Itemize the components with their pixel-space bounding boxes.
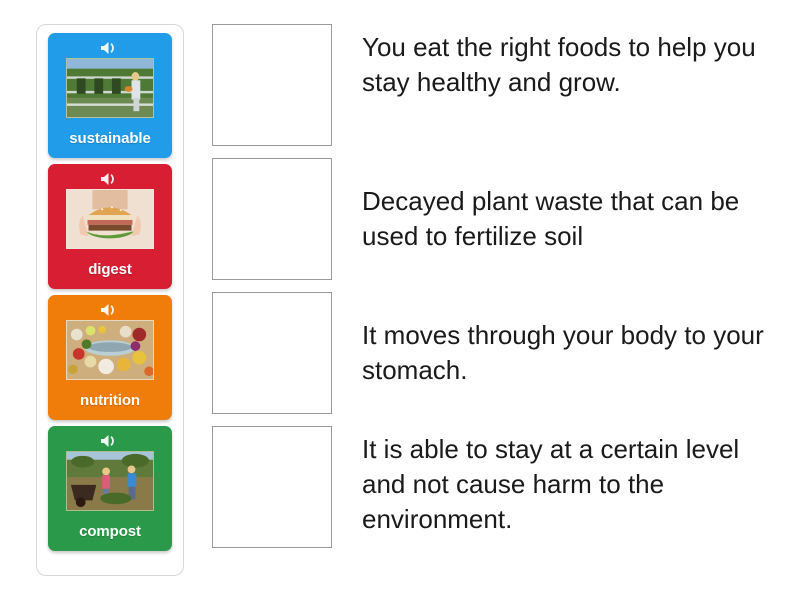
speaker-icon[interactable]	[99, 170, 121, 188]
card-label: sustainable	[65, 118, 154, 158]
draggable-card-sustainable[interactable]: sustainable	[48, 33, 172, 158]
speaker-icon[interactable]	[99, 301, 121, 319]
card-image-sustainable	[66, 58, 154, 118]
draggable-card-digest[interactable]: digest	[48, 164, 172, 289]
dropzone[interactable]	[212, 426, 332, 548]
answer-row: You eat the right foods to help you stay…	[212, 24, 782, 146]
card-tray: sustainable	[36, 24, 184, 576]
definition-text: It is able to stay at a certain level an…	[362, 426, 782, 548]
speaker-icon[interactable]	[99, 39, 121, 57]
speaker-icon[interactable]	[99, 432, 121, 450]
card-label: nutrition	[76, 380, 144, 420]
card-label: compost	[75, 511, 145, 551]
definition-text: Decayed plant waste that can be used to …	[362, 158, 782, 280]
card-label: digest	[84, 249, 136, 289]
answer-rows: You eat the right foods to help you stay…	[212, 24, 782, 548]
card-image-nutrition	[66, 320, 154, 380]
answer-row: It is able to stay at a certain level an…	[212, 426, 782, 548]
answer-row: Decayed plant waste that can be used to …	[212, 158, 782, 280]
definition-text: You eat the right foods to help you stay…	[362, 24, 782, 146]
draggable-card-compost[interactable]: compost	[48, 426, 172, 551]
dropzone[interactable]	[212, 158, 332, 280]
answer-row: It moves through your body to your stoma…	[212, 292, 782, 414]
card-image-digest	[66, 189, 154, 249]
match-up-activity: sustainable	[0, 0, 800, 600]
draggable-card-nutrition[interactable]: nutrition	[48, 295, 172, 420]
dropzone[interactable]	[212, 292, 332, 414]
card-image-compost	[66, 451, 154, 511]
dropzone[interactable]	[212, 24, 332, 146]
definition-text: It moves through your body to your stoma…	[362, 292, 782, 414]
